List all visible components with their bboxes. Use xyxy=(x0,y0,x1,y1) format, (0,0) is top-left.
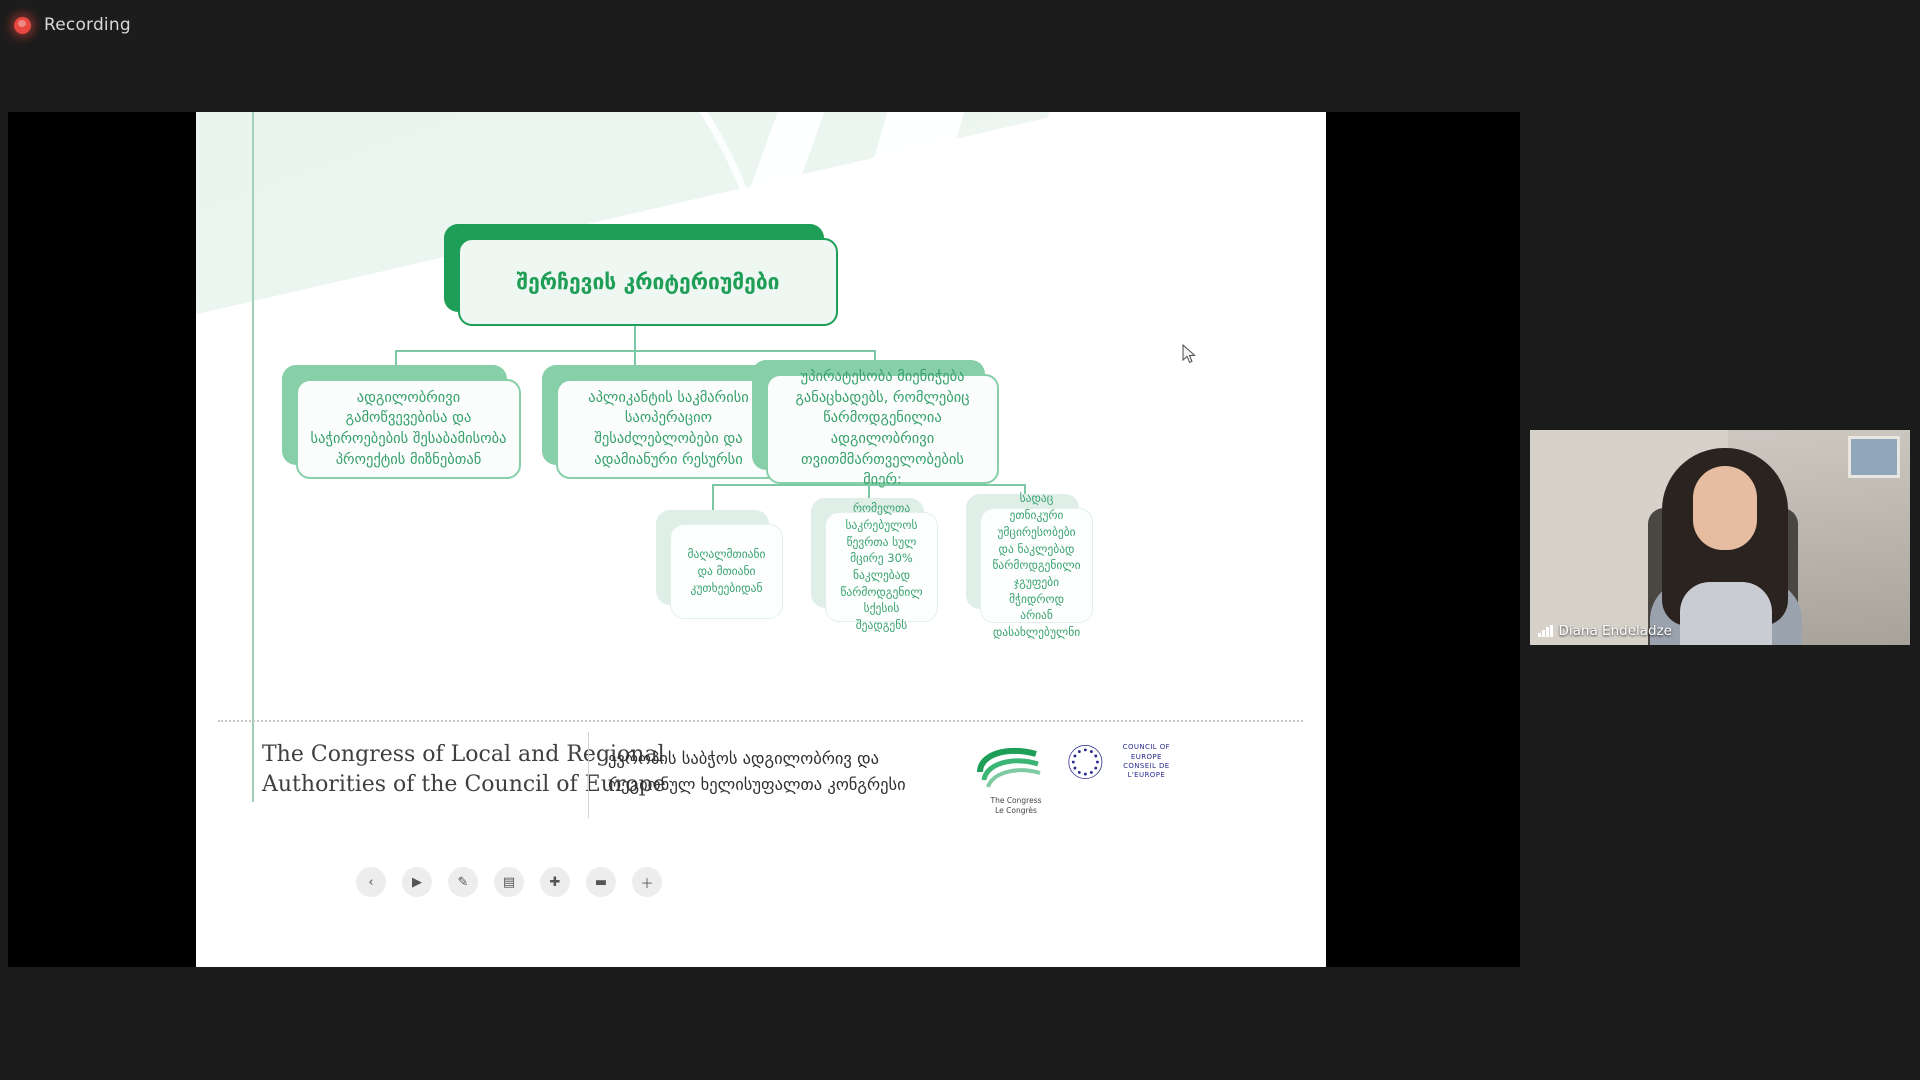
mouse-cursor-icon xyxy=(1182,344,1196,364)
node-card: მაღალმთიანი და მთიანი კუთხეებიდან xyxy=(670,524,783,619)
recording-label: Recording xyxy=(44,15,131,35)
subcriterion-3-text: სადაც ეთნიკური უმცირესობები და ნაკლებად … xyxy=(992,490,1080,640)
participant-video-tile[interactable]: Diana Endeladze xyxy=(1530,430,1910,645)
chart-node-criterion-3: უპირატესობა მიენიჭება განაცხადებს, რომლე… xyxy=(752,360,985,470)
participant-name: Diana Endeladze xyxy=(1559,623,1672,639)
node-card: აპლიკანტის საკმარისი საოპერაციო შესაძლებ… xyxy=(556,379,781,479)
pen-annotate-button[interactable]: ✎ xyxy=(448,867,478,897)
shared-screen: შერჩევის კრიტერიუმები ადგილობრივი გამოწვ… xyxy=(8,112,1520,967)
presentation-slide: შერჩევის კრიტერიუმები ადგილობრივი გამოწვ… xyxy=(196,112,1326,967)
footer-divider xyxy=(218,720,1303,722)
chart-node-subcriterion-2: რომელთა საკრებულოს წევრთა სულ მცირე 30% … xyxy=(811,498,924,608)
criterion-1-text: ადგილობრივი გამოწვევებისა და საჭიროებები… xyxy=(310,388,507,470)
eu-stars-icon xyxy=(1068,742,1103,782)
previous-slide-button[interactable]: ‹ xyxy=(356,867,386,897)
slide-controls-toolbar[interactable]: ‹ ▶ ✎ ▤ ✚ ▬ ＋ xyxy=(196,852,776,912)
recording-indicator-icon xyxy=(14,17,31,34)
video-person-face xyxy=(1693,466,1757,550)
node-card: სადაც ეთნიკური უმცირესობები და ნაკლებად … xyxy=(980,508,1093,623)
congress-logo-mark xyxy=(974,742,1058,792)
video-person-top xyxy=(1680,582,1772,645)
footer-vertical-divider xyxy=(588,732,589,818)
node-card: ადგილობრივი გამოწვევებისა და საჭიროებები… xyxy=(296,379,521,479)
criterion-3-text: უპირატესობა მიენიჭება განაცხადებს, რომლე… xyxy=(780,367,985,490)
coe-logo-line2: CONSEIL DE L'EUROPE xyxy=(1109,762,1184,781)
laser-pointer-button[interactable]: ✚ xyxy=(540,867,570,897)
subcriterion-1-text: მაღალმთიანი და მთიანი კუთხეებიდან xyxy=(683,546,770,596)
eraser-button[interactable]: ▬ xyxy=(586,867,616,897)
participant-name-badge: Diana Endeladze xyxy=(1538,623,1672,639)
slide-footer: The Congress of Local and Regional Autho… xyxy=(196,724,1326,844)
chart-node-title: შერჩევის კრიტერიუმები xyxy=(444,224,824,312)
node-card: უპირატესობა მიენიჭება განაცხადებს, რომლე… xyxy=(766,374,999,484)
audio-signal-icon xyxy=(1538,625,1553,637)
council-of-europe-logo: COUNCIL OF EUROPE CONSEIL DE L'EUROPE xyxy=(1068,742,1184,808)
chart-node-criterion-2: აპლიკანტის საკმარისი საოპერაციო შესაძლებ… xyxy=(542,365,767,465)
recording-bar: Recording xyxy=(0,0,1920,50)
chart-node-subcriterion-1: მაღალმთიანი და მთიანი კუთხეებიდან xyxy=(656,510,769,605)
criterion-2-text: აპლიკანტის საკმარისი საოპერაციო შესაძლებ… xyxy=(570,388,767,470)
node-card: შერჩევის კრიტერიუმები xyxy=(458,238,838,326)
congress-logo: The Congress Le Congrès xyxy=(974,742,1058,808)
footer-georgian-text: ევროპის საბჭოს ადგილობრივ და რეგიონულ ხე… xyxy=(608,746,968,797)
coe-logo-line1: COUNCIL OF EUROPE xyxy=(1109,743,1184,762)
congress-logo-line1: The Congress xyxy=(974,796,1058,806)
meeting-window: Recording შერჩევის კრიტერიუმები xyxy=(0,0,1920,1080)
chart-node-criterion-1: ადგილობრივი გამოწვევებისა და საჭიროებები… xyxy=(282,365,507,465)
slide-menu-button[interactable]: ▤ xyxy=(494,867,524,897)
congress-logo-line2: Le Congrès xyxy=(974,806,1058,816)
subcriterion-2-text: რომელთა საკრებულოს წევრთა სულ მცირე 30% … xyxy=(838,500,925,633)
play-slide-button[interactable]: ▶ xyxy=(402,867,432,897)
chart-title-text: შერჩევის კრიტერიუმები xyxy=(517,269,780,295)
node-card: რომელთა საკრებულოს წევრთა სულ მცირე 30% … xyxy=(825,512,938,622)
video-wall-picture xyxy=(1848,436,1900,478)
more-options-button[interactable]: ＋ xyxy=(632,867,662,897)
chart-node-subcriterion-3: სადაც ეთნიკური უმცირესობები და ნაკლებად … xyxy=(966,494,1079,609)
